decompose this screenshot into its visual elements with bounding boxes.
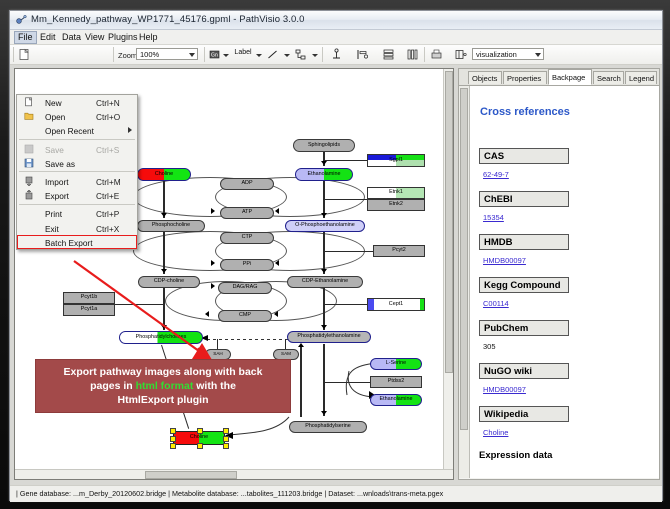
interaction-dropdown-icon[interactable] — [312, 54, 318, 57]
menuitem-accel: Ctrl+X — [96, 224, 119, 234]
menu-separator — [19, 171, 135, 172]
cross-references-title: Cross references — [480, 106, 570, 118]
node-sphingolipids[interactable]: Sphingolipids — [293, 139, 355, 152]
node-phosphatidylserine[interactable]: Phosphatidylserine — [289, 421, 367, 433]
node-l-serine[interactable]: L-Serine — [370, 358, 422, 370]
pathvisio-icon — [15, 14, 27, 26]
menu-edit[interactable]: Edit — [36, 31, 60, 44]
xref-header-hmdb: HMDB — [479, 234, 569, 250]
node-phosphatidylethanolamine[interactable]: Phosphatidylethanolamine — [287, 331, 371, 343]
menu-separator — [19, 204, 135, 205]
menu-help[interactable]: Help — [135, 31, 162, 44]
arrow-down-icon — [321, 161, 327, 165]
node-label: Etnk1 — [389, 190, 403, 195]
window-title: Mm_Kennedy_pathway_WP1771_45176.gpml - P… — [31, 14, 305, 25]
export-icon — [24, 190, 34, 200]
new-document-icon[interactable] — [18, 48, 31, 61]
node-label: Phosphatidylethanolamine — [297, 334, 360, 339]
node-label: L-Serine — [386, 361, 406, 366]
menuitem-exit[interactable]: Exit Ctrl+X — [17, 221, 137, 235]
open-folder-icon — [24, 111, 34, 121]
tab-legend[interactable]: Legend — [625, 71, 657, 84]
node-ethanolamine-bottom[interactable]: Ethanolamine — [370, 394, 422, 406]
callout-line3: HtmlExport plugin — [118, 394, 209, 406]
xref-value-kegg[interactable]: C00114 — [483, 299, 509, 308]
node-label: Sgpl1 — [389, 158, 403, 163]
node-pcyt2[interactable]: Pcyt2 — [373, 245, 425, 257]
zoom-combo[interactable]: 100% — [136, 48, 198, 60]
tab-objects[interactable]: Objects — [468, 71, 502, 84]
arrow-down-icon — [161, 213, 167, 217]
menuitem-accel: Ctrl+M — [96, 177, 121, 187]
label-tool-label[interactable]: Label — [233, 49, 253, 56]
tab-backpage[interactable]: Backpage — [548, 69, 592, 85]
resize-handle[interactable] — [223, 443, 229, 449]
menuitem-save-as[interactable]: Save as — [17, 156, 137, 170]
datanode-icon[interactable]: Gn — [209, 48, 220, 61]
callout-line1: Export pathway images along with back — [64, 366, 263, 378]
distribute-icon[interactable] — [406, 48, 419, 61]
pathvisio-window: Mm_Kennedy_pathway_WP1771_45176.gpml - P… — [9, 10, 663, 501]
resize-handle[interactable] — [197, 428, 203, 434]
edge-ps-up-to-pe — [300, 347, 302, 417]
node-label: Phosphatidylserine — [305, 424, 351, 429]
xref-value-cas[interactable]: 62-49-7 — [483, 170, 509, 179]
node-ptdss2[interactable]: Ptdss2 — [370, 376, 422, 388]
chevron-right-icon — [128, 127, 132, 133]
node-choline-top[interactable]: Choline — [137, 168, 191, 181]
xref-value-hmdb[interactable]: HMDB00097 — [483, 256, 526, 265]
align-icon[interactable] — [356, 48, 369, 61]
edge-phosphoetn-to-cdpetn — [323, 232, 325, 274]
xref-header-kegg: Kegg Compound — [479, 277, 569, 293]
arrow-down-icon — [321, 325, 327, 329]
node-o-phosphoethanolamine[interactable]: O-Phosphoethanolamine — [285, 220, 365, 232]
node-label: Ethanolamine — [308, 172, 341, 177]
menuitem-label: Import — [45, 177, 69, 187]
arrow-down-icon — [321, 213, 327, 217]
anchor-icon[interactable] — [330, 48, 343, 61]
menuitem-label: Open Recent — [45, 126, 94, 136]
node-label: Choline — [155, 172, 173, 177]
import-icon — [24, 176, 34, 186]
expression-data-heading: Expression data — [479, 450, 552, 461]
menuitem-accel: Ctrl+S — [96, 145, 119, 155]
interaction-icon[interactable] — [294, 48, 307, 61]
print-icon[interactable] — [430, 48, 443, 61]
node-label: CTP — [242, 235, 253, 240]
menuitem-new[interactable]: New Ctrl+N — [17, 95, 137, 109]
menuitem-print[interactable]: Print Ctrl+P — [17, 206, 137, 220]
arrow-left-icon — [275, 260, 279, 266]
node-atp[interactable]: ATP — [220, 207, 274, 219]
canvas-vertical-scrollbar[interactable] — [443, 69, 453, 479]
menuitem-accel: Ctrl+N — [96, 98, 120, 108]
node-label: PPi — [243, 262, 251, 267]
edge-sgpl1-catalysis — [323, 160, 369, 161]
resize-handle[interactable] — [223, 436, 229, 442]
xref-header-wikipedia: Wikipedia — [479, 406, 569, 422]
node-cept1[interactable]: Cept1 — [367, 298, 425, 311]
arrow-down-icon — [321, 269, 327, 273]
line-dropdown-icon[interactable] — [284, 54, 290, 57]
edge-etnk-catalysis — [323, 199, 369, 200]
edge-cept1-catalysis — [323, 304, 369, 305]
tab-properties[interactable]: Properties — [503, 71, 547, 84]
window-titlebar: Mm_Kennedy_pathway_WP1771_45176.gpml - P… — [10, 11, 662, 30]
menuitem-export[interactable]: Export Ctrl+E — [17, 188, 137, 202]
backpage-content: Cross references CAS 62-49-7 ChEBI 15354… — [469, 86, 659, 478]
node-label: O-Phosphoethanolamine — [295, 223, 355, 228]
menuitem-accel: Ctrl+P — [96, 209, 119, 219]
menuitem-label: Exit — [45, 224, 59, 234]
node-sgpl1[interactable]: Sgpl1 — [367, 154, 425, 167]
menuitem-label: Export — [45, 191, 69, 201]
backpage-panel: Objects Properties Backpage Search Legen… — [458, 68, 660, 480]
svg-text:Gn: Gn — [211, 53, 218, 59]
resize-handle[interactable] — [223, 428, 229, 434]
scrollbar-thumb[interactable] — [445, 71, 453, 373]
node-phosphocholine[interactable]: Phosphocholine — [137, 220, 205, 232]
ps-to-choline-curve — [223, 415, 295, 441]
menuitem-label: Open — [45, 112, 65, 122]
menuitem-label: New — [45, 98, 62, 108]
xref-header-chebi: ChEBI — [479, 191, 569, 207]
menubar: File Edit Data View Plugins Help — [10, 30, 662, 45]
menuitem-batch-export[interactable]: Batch Export — [17, 235, 137, 249]
arrow-down-icon — [321, 411, 327, 415]
arrow-left-icon — [275, 208, 279, 214]
statusbar: | Gene database: ...m_Derby_20120602.bri… — [10, 485, 662, 502]
save-disk-icon — [24, 144, 34, 154]
canvas-horizontal-scrollbar[interactable] — [15, 469, 453, 479]
menuitem-open-recent[interactable]: Open Recent — [17, 123, 137, 137]
menu-separator — [19, 139, 135, 140]
node-ctp[interactable]: CTP — [220, 232, 274, 244]
zoom-value: 100% — [140, 50, 159, 59]
scrollbar-thumb[interactable] — [145, 471, 237, 479]
tab-search[interactable]: Search — [593, 71, 624, 84]
edge-cdpetn-to-pe — [323, 288, 325, 330]
menuitem-label: Print — [45, 209, 62, 219]
menuitem-import[interactable]: Import Ctrl+M — [17, 174, 137, 188]
node-label: CDP-Ethanolamine — [302, 279, 348, 284]
edge-pcyt2-catalysis — [323, 251, 375, 252]
arrow-right-icon — [211, 208, 215, 214]
resize-handle[interactable] — [170, 428, 176, 434]
node-label: CMP — [239, 313, 251, 318]
file-menu-dropdown[interactable]: New Ctrl+N Open Ctrl+O Open Recent — [16, 94, 138, 250]
node-label: Ethanolamine — [380, 397, 413, 402]
resize-handle[interactable] — [170, 443, 176, 449]
menuitem-accel: Ctrl+O — [96, 112, 120, 122]
arrow-up-icon — [298, 343, 304, 347]
menuitem-accel: Ctrl+E — [96, 191, 119, 201]
chevron-down-icon — [189, 53, 195, 57]
node-label: Pcyt2 — [392, 248, 405, 253]
node-label: Choline — [190, 435, 208, 440]
sidepanel-icon[interactable] — [454, 48, 467, 61]
statusbar-text: | Gene database: ...m_Derby_20120602.bri… — [16, 489, 443, 498]
xref-header-nugo: NuGO wiki — [479, 363, 569, 379]
xref-header-pubchem: PubChem — [479, 320, 569, 336]
node-etnk1[interactable]: Etnk1 — [367, 187, 425, 199]
line-icon[interactable] — [266, 48, 279, 61]
label-dropdown-icon[interactable] — [256, 54, 262, 57]
visualization-value: visualization — [476, 50, 517, 59]
edge-pe-down — [323, 344, 325, 416]
xref-value-pubchem: 305 — [483, 342, 496, 351]
annotation-callout: Export pathway images along with back pa… — [35, 359, 291, 413]
node-label: ATP — [242, 210, 252, 215]
arrow-left-icon — [274, 311, 278, 317]
main-body: Sphingolipids Choline Ethanolamine ADP A… — [10, 65, 662, 485]
menuitem-label: Batch Export — [45, 238, 93, 248]
node-label: ADP — [241, 181, 252, 186]
node-ethanolamine-top[interactable]: Ethanolamine — [295, 168, 353, 181]
callout-highlight: html format — [136, 380, 194, 392]
save-as-icon — [24, 158, 34, 168]
screenshot-root: Mm_Kennedy_pathway_WP1771_45176.gpml - P… — [0, 0, 670, 509]
panel-tabstrip: Objects Properties Backpage Search Legen… — [459, 69, 659, 86]
xref-value-wikipedia[interactable]: Choline — [483, 428, 508, 437]
node-label: Etnk2 — [389, 202, 403, 207]
node-label: SAM — [281, 352, 291, 357]
callout-line2-b: with the — [193, 380, 236, 392]
visualization-combo[interactable]: visualization — [472, 48, 544, 60]
scrollbar-thumb[interactable] — [460, 88, 468, 430]
stack-icon[interactable] — [382, 48, 395, 61]
xref-value-nugo[interactable]: HMDB00097 — [483, 385, 526, 394]
node-choline-selected[interactable]: Choline — [173, 431, 225, 445]
resize-handle[interactable] — [170, 436, 176, 442]
menuitem-save: Save Ctrl+S — [17, 142, 137, 156]
node-cdp-ethanolamine[interactable]: CDP-Ethanolamine — [287, 276, 363, 288]
chevron-down-icon — [535, 53, 541, 57]
datanode-dropdown-icon[interactable] — [223, 54, 229, 57]
resize-handle[interactable] — [197, 443, 203, 449]
node-label: Sphingolipids — [308, 143, 340, 148]
node-etnk2[interactable]: Etnk2 — [367, 199, 425, 211]
menuitem-open[interactable]: Open Ctrl+O — [17, 109, 137, 123]
new-document-icon — [24, 97, 34, 107]
node-label: Phosphocholine — [152, 223, 190, 228]
menuitem-label: Save as — [45, 159, 75, 169]
xref-value-chebi[interactable]: 15354 — [483, 213, 504, 222]
xref-header-cas: CAS — [479, 148, 569, 164]
toolbar: Zoom: 100% Gn Label — [10, 45, 662, 65]
menu-file[interactable]: File — [14, 31, 37, 44]
node-label: Ptdss2 — [388, 379, 404, 384]
callout-line2-a: pages in — [90, 380, 136, 392]
node-adp[interactable]: ADP — [220, 178, 274, 190]
menuitem-label: Save — [45, 145, 64, 155]
node-label: Cept1 — [389, 302, 403, 307]
